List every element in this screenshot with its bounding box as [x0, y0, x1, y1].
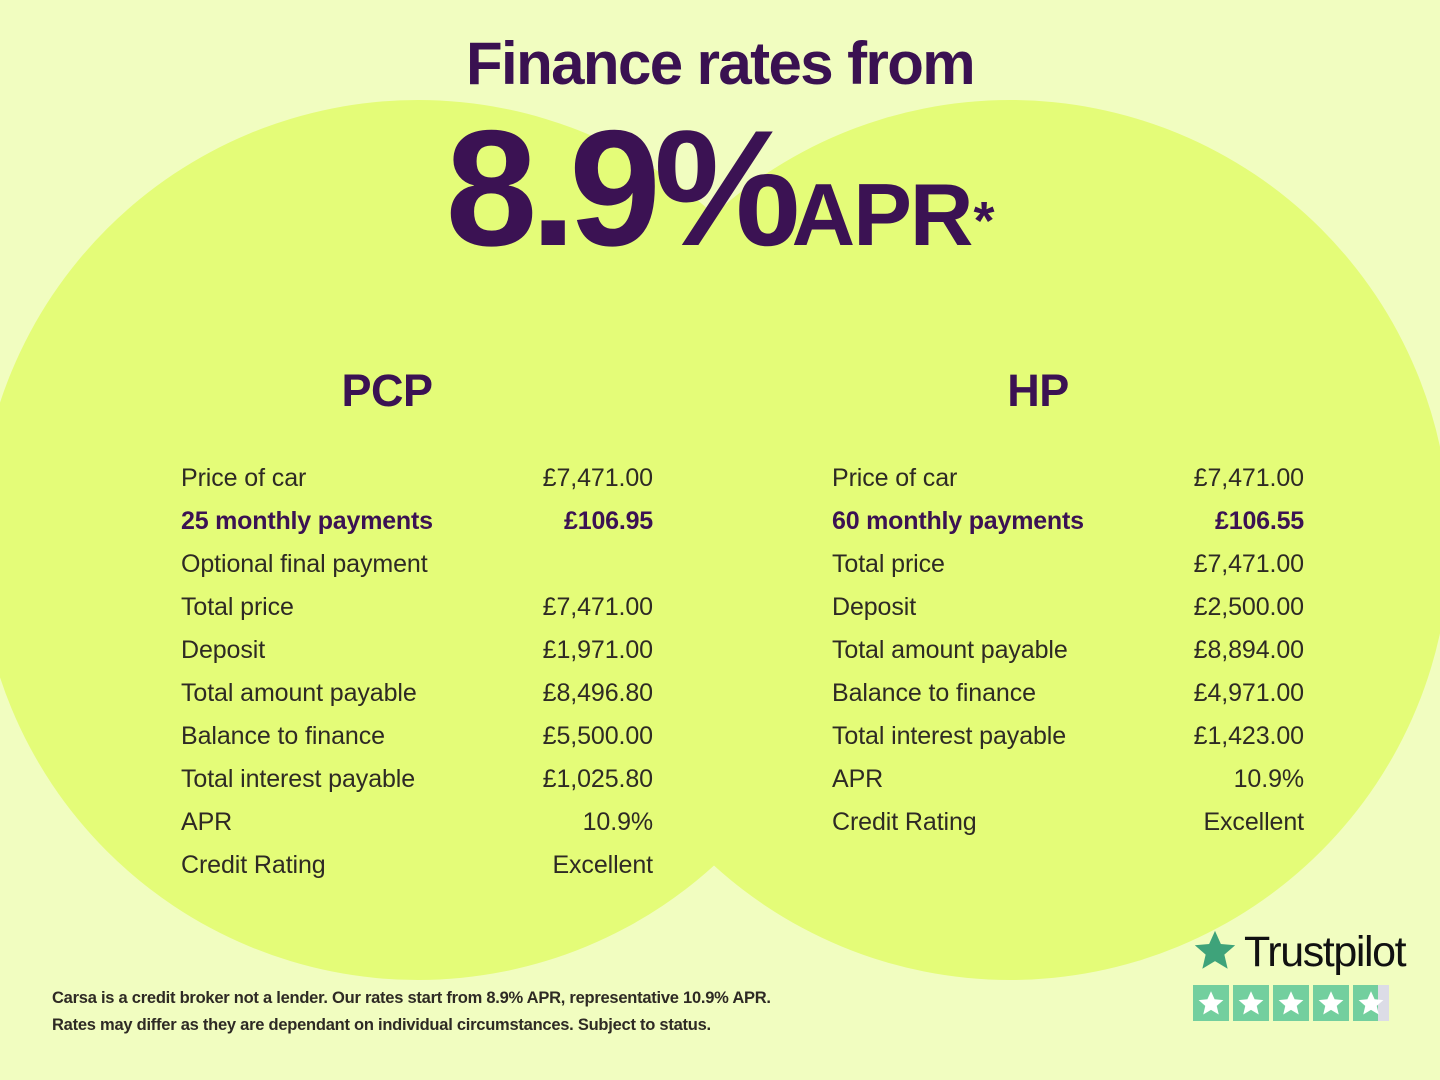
table-row: 60 monthly payments£106.55: [832, 500, 1304, 543]
apr-headline: 8.9%APR*: [0, 106, 1440, 271]
table-row: Deposit£2,500.00: [832, 586, 1304, 629]
row-label: Credit Rating: [181, 844, 417, 887]
column-heading-hp: HP: [832, 368, 1304, 413]
table-row: Total price£7,471.00: [832, 543, 1304, 586]
apr-rate-value: 8.9%: [446, 96, 794, 280]
row-label: 25 monthly payments: [181, 500, 417, 543]
finance-column-pcp: PCP Price of car£7,471.0025 monthly paym…: [0, 368, 720, 887]
row-value: [417, 543, 653, 586]
apr-asterisk: *: [973, 191, 994, 251]
row-value: £5,500.00: [417, 715, 653, 758]
row-value: £1,423.00: [1068, 715, 1304, 758]
row-value: £1,971.00: [417, 629, 653, 672]
headline-block: Finance rates from 8.9%APR*: [0, 34, 1440, 271]
row-value: £8,496.80: [417, 672, 653, 715]
row-label: Total amount payable: [832, 629, 1068, 672]
table-row: Total amount payable£8,496.80: [181, 672, 653, 715]
finance-rows-pcp: Price of car£7,471.0025 monthly payments…: [181, 457, 653, 887]
trustpilot-widget[interactable]: Trustpilot: [1193, 928, 1405, 1021]
star-icon: [1273, 985, 1309, 1021]
row-label: Total interest payable: [832, 715, 1068, 758]
table-row: 25 monthly payments£106.95: [181, 500, 653, 543]
row-label: Total price: [832, 543, 1068, 586]
table-row: Credit RatingExcellent: [181, 844, 653, 887]
table-row: Total amount payable£8,894.00: [832, 629, 1304, 672]
finance-rows-hp: Price of car£7,471.0060 monthly payments…: [832, 457, 1304, 844]
row-label: Optional final payment: [181, 543, 417, 586]
row-label: 60 monthly payments: [832, 500, 1068, 543]
row-label: Balance to finance: [181, 715, 417, 758]
row-value: £106.95: [417, 500, 653, 543]
column-heading-pcp: PCP: [181, 368, 653, 413]
row-label: Total amount payable: [181, 672, 417, 715]
table-row: Deposit£1,971.00: [181, 629, 653, 672]
finance-comparison: PCP Price of car£7,471.0025 monthly paym…: [0, 368, 1440, 887]
table-row: Total interest payable£1,025.80: [181, 758, 653, 801]
row-value: £4,971.00: [1068, 672, 1304, 715]
star-icon: [1193, 928, 1237, 977]
row-label: Credit Rating: [832, 801, 1068, 844]
finance-rates-graphic: Finance rates from 8.9%APR* PCP Price of…: [0, 0, 1440, 1080]
table-row: Balance to finance£4,971.00: [832, 672, 1304, 715]
row-value: £7,471.00: [1068, 543, 1304, 586]
table-row: Balance to finance£5,500.00: [181, 715, 653, 758]
finance-table-pcp: Price of car£7,471.0025 monthly payments…: [181, 457, 653, 887]
row-label: Deposit: [181, 629, 417, 672]
star-icon: [1313, 985, 1349, 1021]
row-label: Total interest payable: [181, 758, 417, 801]
row-label: Price of car: [832, 457, 1068, 500]
row-label: APR: [832, 758, 1068, 801]
table-row: Price of car£7,471.00: [832, 457, 1304, 500]
table-row: Total price£7,471.00: [181, 586, 653, 629]
table-row: Price of car£7,471.00: [181, 457, 653, 500]
table-row: Optional final payment: [181, 543, 653, 586]
disclaimer-line-1: Carsa is a credit broker not a lender. O…: [52, 985, 812, 1012]
table-row: APR10.9%: [181, 801, 653, 844]
row-value: Excellent: [417, 844, 653, 887]
table-row: Credit RatingExcellent: [832, 801, 1304, 844]
star-icon: [1353, 985, 1389, 1021]
finance-table-hp: Price of car£7,471.0060 monthly payments…: [832, 457, 1304, 844]
trustpilot-name: Trustpilot: [1244, 931, 1405, 974]
row-label: Total price: [181, 586, 417, 629]
trustpilot-logo: Trustpilot: [1193, 928, 1405, 976]
row-value: 10.9%: [417, 801, 653, 844]
disclaimer-line-2: Rates may differ as they are dependant o…: [52, 1012, 812, 1039]
table-row: APR10.9%: [832, 758, 1304, 801]
row-value: £7,471.00: [417, 586, 653, 629]
row-label: Deposit: [832, 586, 1068, 629]
trustpilot-rating-stars: [1193, 985, 1405, 1021]
apr-unit-label: APR: [792, 165, 972, 264]
star-icon: [1193, 985, 1229, 1021]
row-value: £8,894.00: [1068, 629, 1304, 672]
row-value: £106.55: [1068, 500, 1304, 543]
row-value: £7,471.00: [417, 457, 653, 500]
row-value: £1,025.80: [417, 758, 653, 801]
page-title: Finance rates from: [0, 34, 1440, 94]
star-icon: [1233, 985, 1269, 1021]
row-label: APR: [181, 801, 417, 844]
row-value: 10.9%: [1068, 758, 1304, 801]
row-value: Excellent: [1068, 801, 1304, 844]
table-row: Total interest payable£1,423.00: [832, 715, 1304, 758]
disclaimer-text: Carsa is a credit broker not a lender. O…: [52, 985, 812, 1038]
row-label: Price of car: [181, 457, 417, 500]
row-label: Balance to finance: [832, 672, 1068, 715]
finance-column-hp: HP Price of car£7,471.0060 monthly payme…: [720, 368, 1440, 887]
row-value: £7,471.00: [1068, 457, 1304, 500]
row-value: £2,500.00: [1068, 586, 1304, 629]
